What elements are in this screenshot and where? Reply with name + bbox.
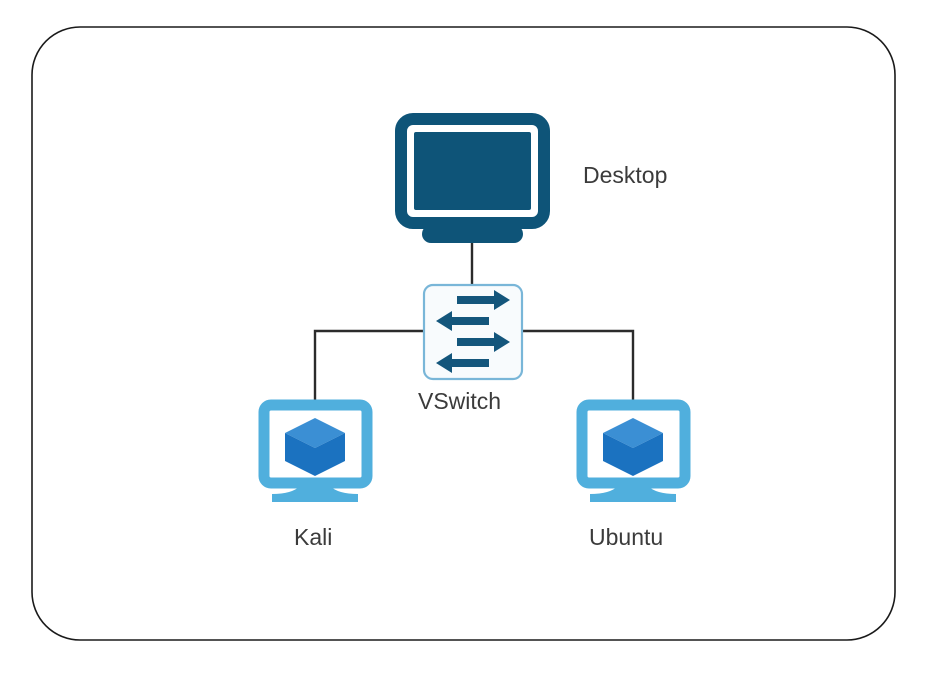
- link-vswitch-to-kali: [315, 331, 426, 404]
- node-label-desktop: Desktop: [583, 164, 667, 187]
- node-label-vswitch: VSwitch: [418, 390, 501, 413]
- desktop-monitor-base: [422, 225, 523, 243]
- network-switch-icon[interactable]: [424, 285, 522, 379]
- kali-cube-glyph: [285, 418, 345, 476]
- node-label-ubuntu: Ubuntu: [589, 526, 663, 549]
- network-diagram-canvas: Desktop VSwitch Kali Ubuntu: [0, 0, 952, 676]
- desktop-monitor-screen: [414, 132, 531, 210]
- virtual-machine-icon-ubuntu[interactable]: [582, 405, 685, 502]
- node-label-kali: Kali: [294, 526, 332, 549]
- virtual-machine-icon-kali[interactable]: [264, 405, 367, 502]
- ubuntu-cube-glyph: [603, 418, 663, 476]
- diagram-vector-layer: [0, 0, 952, 676]
- link-vswitch-to-ubuntu: [520, 331, 633, 404]
- desktop-monitor-icon[interactable]: [401, 119, 544, 243]
